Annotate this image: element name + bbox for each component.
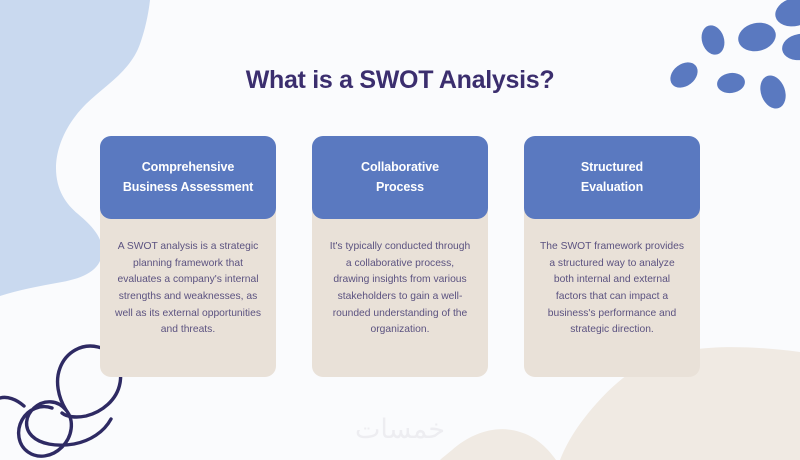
card-body-text: A SWOT analysis is a strategic planning …	[100, 239, 276, 339]
card-header-line-2: Business Assessment	[123, 180, 253, 194]
page-title: What is a SWOT Analysis?	[0, 66, 800, 95]
card-header-line-2: Process	[376, 180, 424, 194]
card-header-panel: Structured Evaluation	[524, 136, 700, 219]
card-header-line-1: Comprehensive	[142, 160, 234, 174]
card-header-title: Comprehensive Business Assessment	[123, 158, 253, 197]
card-header-title: Collaborative Process	[361, 158, 439, 197]
top-right-confetti-shape	[665, 0, 800, 112]
swot-card-structured-evaluation[interactable]: Structured Evaluation The SWOT framework…	[524, 136, 700, 377]
card-header-panel: Collaborative Process	[312, 136, 488, 219]
card-header-panel: Comprehensive Business Assessment	[100, 136, 276, 219]
swot-card-collaborative-process[interactable]: Collaborative Process It's typically con…	[312, 136, 488, 377]
card-header-line-1: Collaborative	[361, 160, 439, 174]
card-body-text: It's typically conducted through a colla…	[312, 239, 488, 339]
swot-card-comprehensive-business-assessment[interactable]: Comprehensive Business Assessment A SWOT…	[100, 136, 276, 377]
watermark-text: خمسات	[0, 414, 800, 445]
card-header-title: Structured Evaluation	[581, 158, 643, 197]
card-header-line-2: Evaluation	[581, 180, 643, 194]
card-header-line-1: Structured	[581, 160, 643, 174]
card-body-text: The SWOT framework provides a structured…	[524, 239, 700, 339]
swot-cards-row: Comprehensive Business Assessment A SWOT…	[0, 136, 800, 381]
